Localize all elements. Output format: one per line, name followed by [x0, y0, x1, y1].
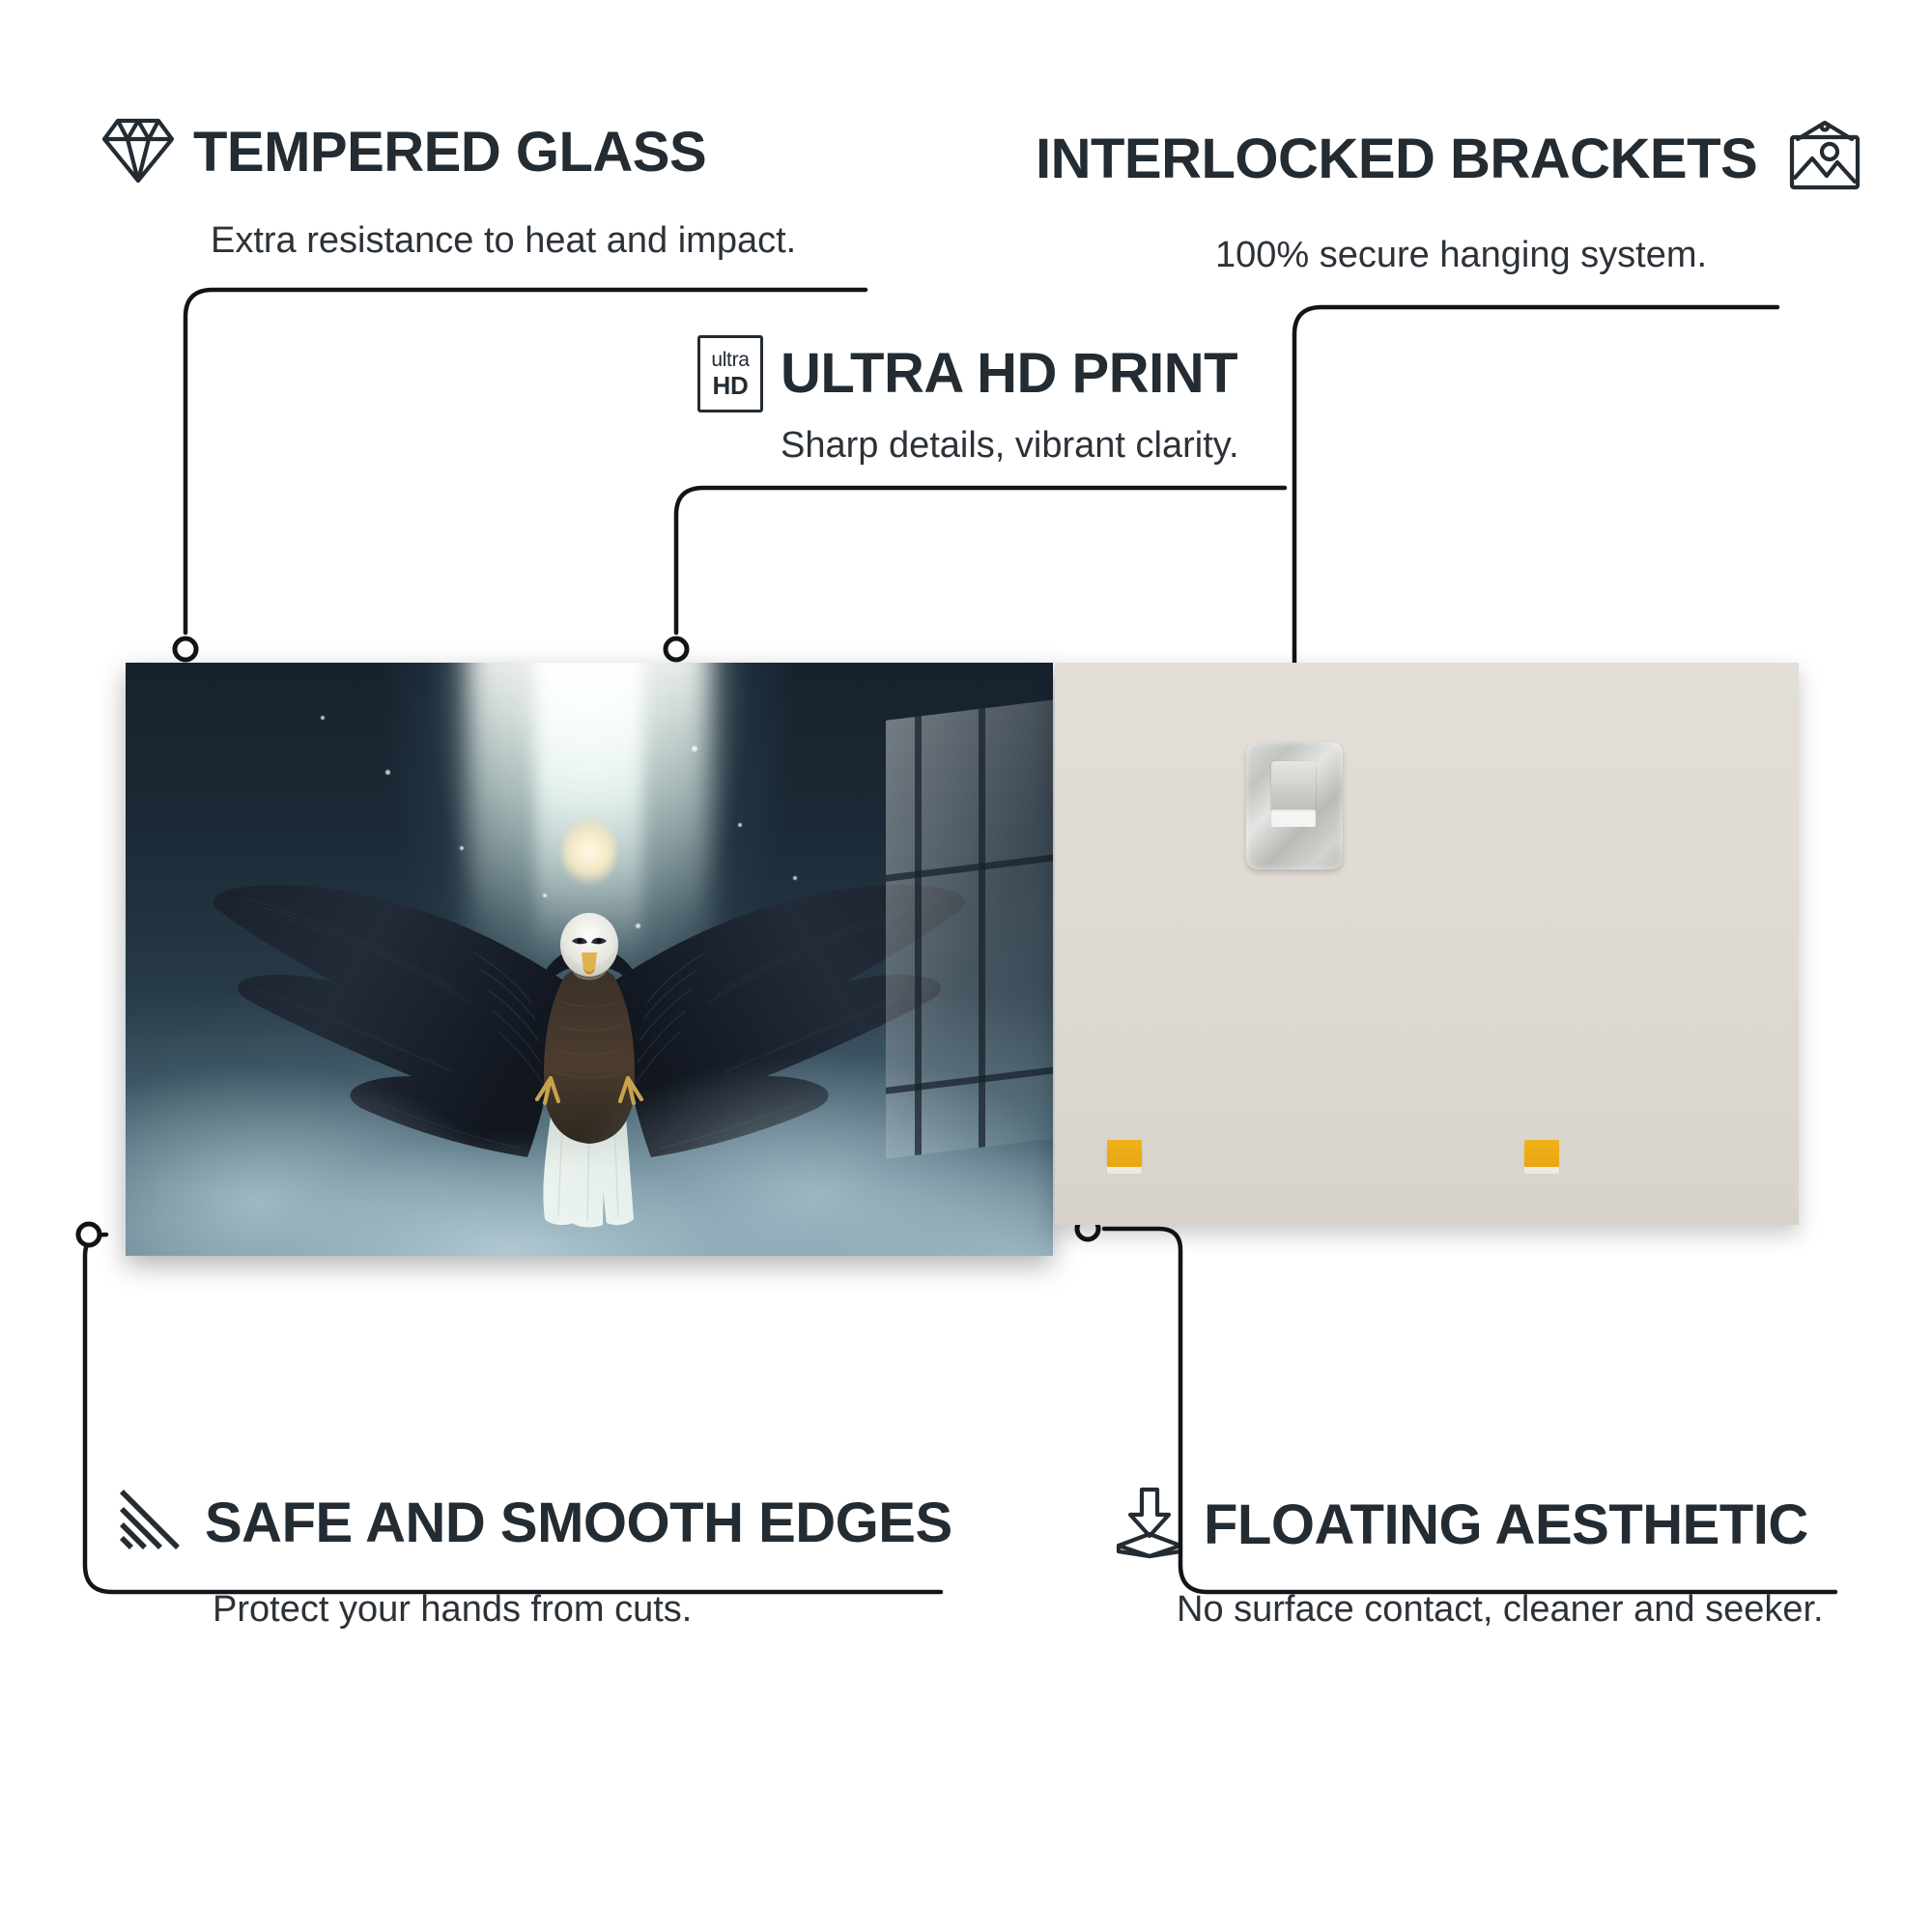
- feature-interlocked-brackets-heading: INTERLOCKED BRACKETS: [1036, 118, 1865, 200]
- spacer-pad-left: [1107, 1140, 1142, 1167]
- feature-title: TEMPERED GLASS: [193, 125, 706, 181]
- feature-tempered-glass-subtitle: Extra resistance to heat and impact.: [211, 220, 796, 263]
- feature-floating-aesthetic-heading: FLOATING AESTHETIC: [1113, 1486, 1808, 1564]
- bracket-slot: [1271, 810, 1316, 827]
- feature-safe-and-smooth-edges-subtitle: Protect your hands from cuts.: [213, 1589, 692, 1632]
- glass-window-reflection: [886, 699, 1053, 1159]
- feature-ultra-hd-print-heading: ultra HD ULTRA HD PRINT: [697, 335, 1237, 412]
- infographic-canvas: TEMPERED GLASS Extra resistance to heat …: [0, 0, 1932, 1932]
- arrow-down-to-surface-icon: [1113, 1486, 1186, 1564]
- feature-title: INTERLOCKED BRACKETS: [1036, 131, 1757, 187]
- feature-title: SAFE AND SMOOTH EDGES: [205, 1495, 952, 1551]
- badge-line-1: ultra: [711, 350, 749, 370]
- feature-tempered-glass-heading: TEMPERED GLASS: [100, 114, 706, 190]
- diamond-icon: [100, 114, 176, 190]
- feature-title: FLOATING AESTHETIC: [1204, 1497, 1808, 1553]
- feature-interlocked-brackets-subtitle: 100% secure hanging system.: [1215, 235, 1707, 277]
- interlocked-bracket-plate: [1246, 742, 1343, 869]
- feature-title: ULTRA HD PRINT: [781, 346, 1237, 402]
- bracket-tab: [1271, 761, 1316, 811]
- hanging-picture-frame-icon: [1784, 118, 1865, 200]
- glass-print-artwork: [126, 663, 1053, 1256]
- bevelled-edges-icon: [114, 1486, 187, 1560]
- badge-line-2: HD: [713, 373, 749, 398]
- spacer-pad-right: [1524, 1140, 1559, 1167]
- ultra-hd-badge-icon: ultra HD: [697, 335, 763, 412]
- feature-ultra-hd-print-subtitle: Sharp details, vibrant clarity.: [781, 425, 1239, 468]
- feature-floating-aesthetic-subtitle: No surface contact, cleaner and seeker.: [1177, 1589, 1824, 1632]
- glass-print-back-panel: [1055, 663, 1799, 1225]
- feature-safe-and-smooth-edges-heading: SAFE AND SMOOTH EDGES: [114, 1486, 952, 1560]
